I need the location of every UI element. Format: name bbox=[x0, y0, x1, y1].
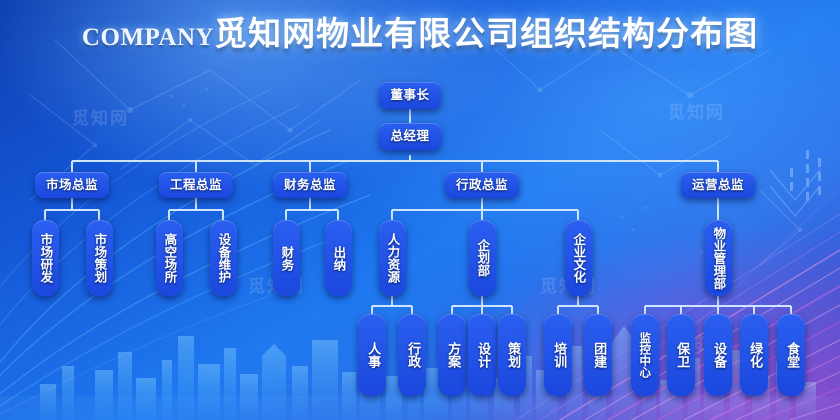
node-director-admin[interactable]: 行政总监 bbox=[445, 172, 519, 198]
node-general-manager[interactable]: 总经理 bbox=[379, 123, 441, 150]
node-director-market[interactable]: 市场总监 bbox=[35, 172, 109, 198]
node-director-finance[interactable]: 财务总监 bbox=[273, 172, 347, 198]
node-market-rd[interactable]: 市场研发 bbox=[32, 220, 59, 296]
node-administration[interactable]: 行政 bbox=[398, 314, 426, 396]
org-chart: 董事长 总经理 市场总监 工程总监 财务总监 行政总监 运营总监 市场研发 市场… bbox=[0, 62, 840, 420]
node-personnel[interactable]: 人事 bbox=[358, 314, 386, 396]
node-market-planning[interactable]: 市场策划 bbox=[86, 220, 113, 296]
node-planning-department[interactable]: 企划部 bbox=[469, 220, 496, 296]
node-corporate-culture[interactable]: 企业文化 bbox=[565, 220, 592, 296]
node-canteen[interactable]: 食堂 bbox=[777, 314, 805, 396]
node-human-resources[interactable]: 人力资源 bbox=[379, 220, 406, 296]
title-chinese: 觅知网物业有限公司组织结构分布图 bbox=[214, 14, 758, 53]
node-monitoring-center[interactable]: 监控中心 bbox=[631, 314, 659, 396]
node-high-altitude-site[interactable]: 高空场所 bbox=[156, 220, 183, 296]
node-security[interactable]: 保卫 bbox=[667, 314, 695, 396]
node-chairman[interactable]: 董事长 bbox=[379, 82, 441, 109]
node-equipment-maintenance[interactable]: 设备维护 bbox=[210, 220, 237, 296]
node-director-operations[interactable]: 运营总监 bbox=[681, 172, 755, 198]
node-design[interactable]: 设计 bbox=[468, 314, 496, 396]
node-property-management[interactable]: 物业管理部 bbox=[705, 220, 732, 296]
page-title: COMPANY觅知网物业有限公司组织结构分布图 bbox=[0, 0, 840, 62]
node-team-building[interactable]: 团建 bbox=[584, 314, 612, 396]
node-finance[interactable]: 财务 bbox=[273, 220, 300, 296]
node-planning[interactable]: 策划 bbox=[498, 314, 526, 396]
title-english: COMPANY bbox=[82, 24, 214, 51]
node-equipment[interactable]: 设备 bbox=[704, 314, 732, 396]
node-cashier[interactable]: 出纳 bbox=[325, 220, 352, 296]
poster-canvas: 觅知网 觅知网 觅知网 觅知网 觅知网 COMPANY觅知网物业有限公司组织结构… bbox=[0, 0, 840, 420]
node-training[interactable]: 培训 bbox=[544, 314, 572, 396]
node-director-engineering[interactable]: 工程总监 bbox=[159, 172, 233, 198]
node-proposal[interactable]: 方案 bbox=[438, 314, 466, 396]
node-greening[interactable]: 绿化 bbox=[740, 314, 768, 396]
